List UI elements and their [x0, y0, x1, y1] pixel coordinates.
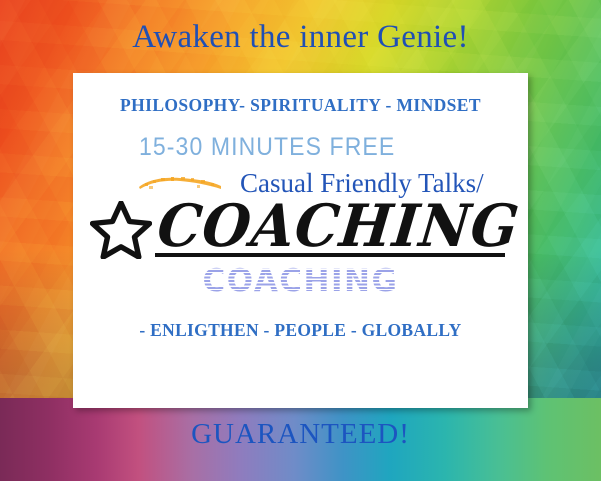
star-outline-icon [90, 201, 152, 259]
coaching-underline [155, 253, 505, 257]
coaching-script-text: COACHING [155, 193, 523, 259]
guaranteed-text: GUARANTEED! [0, 416, 601, 452]
orange-scribble-icon [135, 176, 225, 192]
card-footer-text: - ENLIGTHEN - PEOPLE - GLOBALLY [73, 320, 528, 341]
card-kicker-text: PHILOSOPHY- SPIRITUALITY - MINDSET [73, 95, 528, 116]
poster-headline: Awaken the inner Genie! [0, 17, 601, 57]
coaching-lavender-text: COACHING [73, 263, 528, 299]
free-offer-text: 15-30 MINUTES FREE [139, 134, 395, 160]
content-card: PHILOSOPHY- SPIRITUALITY - MINDSET 15-30… [73, 73, 528, 408]
poster-canvas: Awaken the inner Genie! PHILOSOPHY- SPIR… [0, 0, 601, 481]
